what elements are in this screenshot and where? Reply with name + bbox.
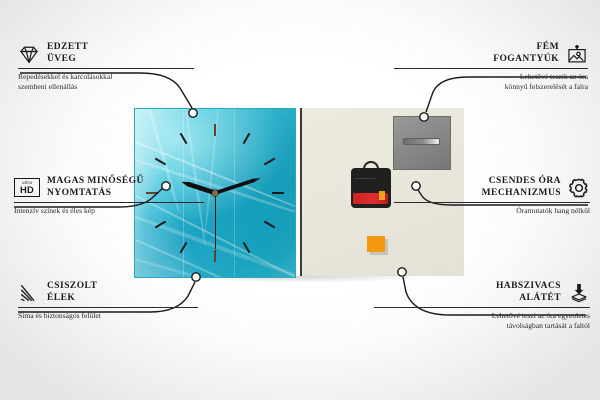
- clock-minute-hand: [214, 176, 261, 195]
- callout-subtitle-line2: szembeni ellenállás: [18, 82, 77, 91]
- callout-subtitle-line1: Repedésekkel és karcolásokkal: [18, 72, 112, 81]
- clock-tick: [214, 124, 216, 136]
- callout-subtitle-line1: Óramutatók hang nélkül: [516, 206, 590, 215]
- callout-polished-edges[interactable]: CSISZOLT ÉLEK Sima és biztonságos felüle…: [18, 281, 198, 321]
- callout-foam-pad[interactable]: HABSZIVACS ALÁTÉT Lehetővé teszi az óra …: [374, 281, 590, 330]
- callout-title-line2: FOGANTYÚK: [493, 54, 559, 64]
- callout-divider: [374, 307, 590, 308]
- callout-divider: [394, 68, 588, 69]
- callout-title-line2: ALÁTÉT: [519, 293, 561, 303]
- callout-title-line1: EDZETT: [47, 42, 88, 52]
- callout-divider: [394, 202, 590, 203]
- callout-subtitle-line2: könnyű felszerelését a falra: [505, 82, 588, 91]
- callout-title-line2: ÉLEK: [47, 293, 75, 303]
- ultra-hd-icon: ultra HD: [14, 178, 40, 197]
- callout-quiet-mechanism[interactable]: CSENDES ÓRA MECHANIZMUS Óramutatók hang …: [394, 176, 590, 216]
- callout-title-line2: MECHANIZMUS: [482, 188, 561, 198]
- callout-divider: [14, 202, 204, 203]
- clock-tick: [155, 221, 166, 229]
- picture-hanger-icon: [566, 43, 588, 65]
- callout-title-line1: CSISZOLT: [47, 281, 97, 291]
- clock-tick: [264, 158, 275, 166]
- callout-divider: [18, 307, 198, 308]
- clock-second-hand: [215, 193, 216, 249]
- diamond-icon: [18, 43, 40, 65]
- callout-metal-handles[interactable]: FÉM FOGANTYÚK Lehetővé teszik az óra kön…: [394, 42, 588, 91]
- callout-subtitle-line1: Lehetővé teszik az óra: [520, 72, 588, 81]
- callout-subtitle-line1: Intenzív színek és éles kép: [14, 206, 95, 215]
- callout-subtitle-line2: távolságban tartását a faltól: [507, 321, 590, 330]
- clock-tick: [243, 242, 251, 253]
- clock-tick: [243, 133, 251, 144]
- clock-tick: [180, 133, 188, 144]
- foam-pad: [367, 236, 385, 252]
- callout-subtitle-line1: Sima és biztonságos felület: [18, 311, 101, 320]
- callout-title-line1: MAGAS MINŐSÉGŰ: [47, 176, 144, 186]
- clock-tick: [272, 192, 284, 194]
- callout-subtitle-line1: Lehetővé teszi az óra egyenletes: [492, 311, 590, 320]
- callout-tempered-glass[interactable]: EDZETT ÜVEG Repedésekkel és karcolásokka…: [18, 42, 194, 91]
- callout-high-quality-print[interactable]: ultra HD MAGAS MINŐSÉGŰ NYOMTATÁS Intenz…: [14, 176, 204, 216]
- callout-title-line2: NYOMTATÁS: [47, 188, 111, 198]
- polished-edge-icon: [18, 282, 40, 304]
- clock-tick: [214, 250, 216, 262]
- clock-mechanism: [351, 168, 391, 208]
- clock-tick: [180, 242, 188, 253]
- press-down-pad-icon: [568, 282, 590, 304]
- metal-hanger: [393, 116, 451, 170]
- battery: [353, 193, 388, 204]
- clock-tick: [264, 221, 275, 229]
- gear-icon: [568, 177, 590, 199]
- clock-tick: [155, 158, 166, 166]
- callout-title-line1: HABSZIVACS: [496, 281, 561, 291]
- callout-title-line2: ÜVEG: [47, 54, 76, 64]
- infographic-stage: EDZETT ÜVEG Repedésekkel és karcolásokka…: [0, 0, 600, 400]
- clock-center-cap: [212, 190, 218, 196]
- ultra-hd-icon-main: HD: [20, 185, 34, 194]
- callout-title-line1: FÉM: [537, 42, 559, 52]
- callout-title-line1: CSENDES ÓRA: [489, 176, 561, 186]
- callout-divider: [18, 68, 194, 69]
